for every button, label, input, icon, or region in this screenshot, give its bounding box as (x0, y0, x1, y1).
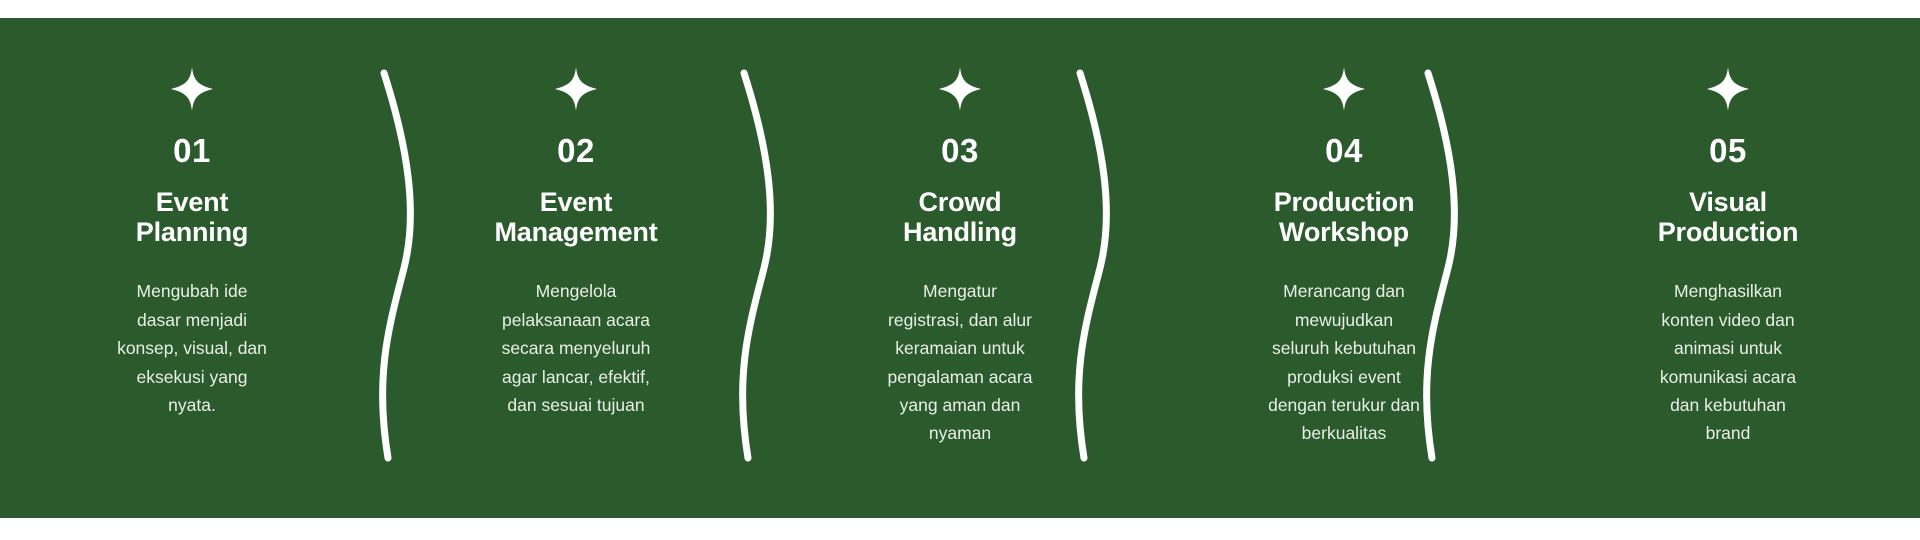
step-description: Menghasilkan konten video dan animasi un… (1660, 277, 1796, 447)
step-description-line: Mengelola (502, 277, 651, 305)
step-description-line: Merancang dan (1268, 277, 1420, 305)
step-description-line: seluruh kebutuhan (1268, 334, 1420, 362)
step-description-line: produksi event (1268, 363, 1420, 391)
service-column-2: 02 Event Management Mengelola pelaksanaa… (384, 18, 768, 419)
service-columns: 01 Event Planning Mengubah ide dasar men… (0, 18, 1920, 518)
step-title-line: Event (494, 187, 657, 217)
step-description-line: secara menyeluruh (502, 334, 651, 362)
step-number: 01 (173, 134, 211, 167)
service-column-5: 05 Visual Production Menghasilkan konten… (1536, 18, 1920, 448)
step-description-line: konten video dan (1660, 306, 1796, 334)
step-description-line: komunikasi acara (1660, 363, 1796, 391)
step-title-line: Event (136, 187, 248, 217)
step-number: 04 (1325, 134, 1363, 167)
step-title-line: Planning (136, 217, 248, 247)
step-description-line: berkualitas (1268, 419, 1420, 447)
step-description: Mengelola pelaksanaan acara secara menye… (502, 277, 651, 419)
step-description-line: eksekusi yang (117, 363, 267, 391)
step-description: Mengatur registrasi, dan alur keramaian … (888, 277, 1033, 447)
step-description: Merancang dan mewujudkan seluruh kebutuh… (1268, 277, 1420, 447)
step-title-line: Crowd (903, 187, 1017, 217)
step-title: Production Workshop (1274, 187, 1415, 247)
step-description-line: dasar menjadi (117, 306, 267, 334)
services-banner: 01 Event Planning Mengubah ide dasar men… (0, 18, 1920, 518)
step-description-line: mewujudkan (1268, 306, 1420, 334)
step-description-line: pelaksanaan acara (502, 306, 651, 334)
step-description-line: nyata. (117, 391, 267, 419)
step-description-line: brand (1660, 419, 1796, 447)
step-number: 05 (1709, 134, 1747, 167)
step-description-line: nyaman (888, 419, 1033, 447)
step-description-line: registrasi, dan alur (888, 306, 1033, 334)
step-title: Crowd Handling (903, 187, 1017, 247)
step-title-line: Management (494, 217, 657, 247)
step-description-line: animasi untuk (1660, 334, 1796, 362)
step-title: Event Management (494, 187, 657, 247)
step-description-line: dengan terukur dan (1268, 391, 1420, 419)
service-column-3: 03 Crowd Handling Mengatur registrasi, d… (768, 18, 1152, 448)
sparkle-icon (1321, 66, 1367, 112)
step-description-line: konsep, visual, dan (117, 334, 267, 362)
step-description-line: agar lancar, efektif, (502, 363, 651, 391)
step-description-line: dan sesuai tujuan (502, 391, 651, 419)
step-description-line: keramaian untuk (888, 334, 1033, 362)
service-column-1: 01 Event Planning Mengubah ide dasar men… (0, 18, 384, 419)
sparkle-icon (553, 66, 599, 112)
step-title-line: Visual (1658, 187, 1799, 217)
step-title-line: Workshop (1274, 217, 1415, 247)
step-description: Mengubah ide dasar menjadi konsep, visua… (117, 277, 267, 419)
step-number: 02 (557, 134, 595, 167)
step-description-line: pengalaman acara (888, 363, 1033, 391)
step-description-line: dan kebutuhan (1660, 391, 1796, 419)
step-description-line: yang aman dan (888, 391, 1033, 419)
step-title-line: Production (1274, 187, 1415, 217)
sparkle-icon (937, 66, 983, 112)
service-column-4: 04 Production Workshop Merancang dan mew… (1152, 18, 1536, 448)
step-number: 03 (941, 134, 979, 167)
step-title-line: Handling (903, 217, 1017, 247)
step-description-line: Mengubah ide (117, 277, 267, 305)
sparkle-icon (1705, 66, 1751, 112)
step-description-line: Mengatur (888, 277, 1033, 305)
sparkle-icon (169, 66, 215, 112)
step-description-line: Menghasilkan (1660, 277, 1796, 305)
step-title-line: Production (1658, 217, 1799, 247)
step-title: Visual Production (1658, 187, 1799, 247)
step-title: Event Planning (136, 187, 248, 247)
